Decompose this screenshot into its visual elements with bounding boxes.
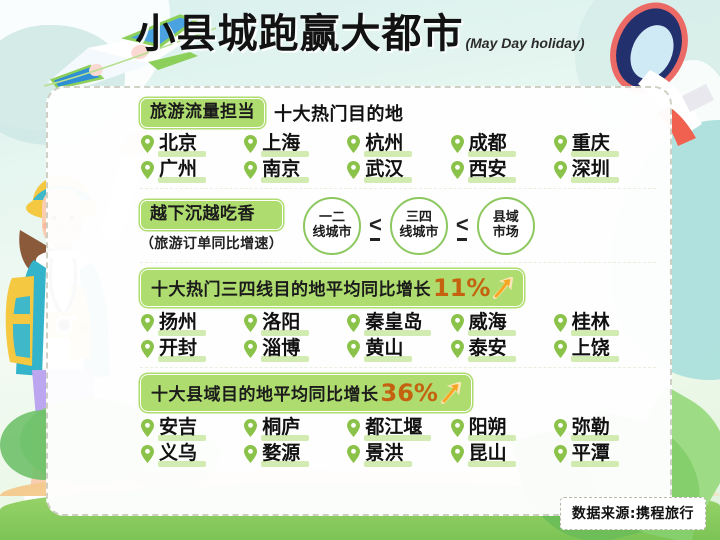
title-block: 小县城跑赢大都市(May Day holiday) bbox=[0, 14, 720, 54]
city-item[interactable]: 秦皇岛 bbox=[346, 312, 449, 334]
badge-sinking-market: 越下沉越吃香 bbox=[140, 200, 283, 230]
city-item[interactable]: 桐庐 bbox=[243, 417, 346, 439]
city-grid-county: 安吉 桐庐 都江堰 阳朔 弥勒 bbox=[140, 417, 656, 465]
city-item[interactable]: 阳朔 bbox=[450, 417, 553, 439]
city-label: 弥勒 bbox=[571, 417, 613, 439]
city-label: 都江堰 bbox=[364, 417, 425, 439]
city-label: 开封 bbox=[158, 338, 200, 360]
city-label: 西安 bbox=[468, 159, 510, 181]
city-label: 义乌 bbox=[158, 443, 200, 465]
map-pin-icon bbox=[346, 340, 361, 358]
city-label: 阳朔 bbox=[468, 417, 510, 439]
up-arrow-icon bbox=[491, 277, 513, 299]
tier-row: 越下沉越吃香 （旅游订单同比增速） 一二 线城市 < 三四 线城市 < 县域 市… bbox=[140, 197, 656, 255]
city-grid-tier34: 扬州 洛阳 秦皇岛 威海 桂林 bbox=[140, 312, 656, 360]
city-label: 扬州 bbox=[158, 312, 200, 334]
section-divider bbox=[140, 188, 656, 189]
map-pin-icon bbox=[553, 419, 568, 437]
city-item[interactable]: 成都 bbox=[450, 133, 553, 155]
map-pin-icon bbox=[450, 340, 465, 358]
city-label: 桂林 bbox=[571, 312, 613, 334]
map-pin-icon bbox=[140, 445, 155, 463]
badge-traffic-leader: 旅游流量担当 bbox=[140, 98, 265, 128]
less-than-symbol: < bbox=[369, 212, 382, 241]
city-label: 秦皇岛 bbox=[364, 312, 425, 334]
tier34-percent: 11% bbox=[433, 276, 490, 300]
map-pin-icon bbox=[346, 135, 361, 153]
section-header: 旅游流量担当 十大热门目的地 bbox=[140, 98, 656, 128]
map-pin-icon bbox=[243, 419, 258, 437]
city-grid-destinations: 北京 上海 杭州 成都 重庆 bbox=[140, 133, 656, 181]
section-tier-comparison: 越下沉越吃香 （旅游订单同比增速） 一二 线城市 < 三四 线城市 < 县域 市… bbox=[140, 195, 656, 255]
heading-top-ten-destinations: 十大热门目的地 bbox=[274, 100, 404, 126]
city-label: 上海 bbox=[261, 133, 303, 155]
city-label: 景洪 bbox=[364, 443, 406, 465]
infographic-canvas: 小县城跑赢大都市(May Day holiday) 旅游流量担当 十大热门目的地… bbox=[0, 0, 720, 540]
city-label: 洛阳 bbox=[261, 312, 303, 334]
map-pin-icon bbox=[450, 314, 465, 332]
city-item[interactable]: 深圳 bbox=[553, 159, 656, 181]
city-item[interactable]: 昆山 bbox=[450, 443, 553, 465]
city-item[interactable]: 上饶 bbox=[553, 338, 656, 360]
section-divider bbox=[140, 262, 656, 263]
city-item[interactable]: 武汉 bbox=[346, 159, 449, 181]
city-label: 婺源 bbox=[261, 443, 303, 465]
city-item[interactable]: 淄博 bbox=[243, 338, 346, 360]
tier34-heading: 十大热门三四线目的地平均同比增长 bbox=[151, 275, 431, 300]
badge-county-growth: 十大县域目的地平均同比增长 36% bbox=[140, 374, 472, 412]
city-item[interactable]: 黄山 bbox=[346, 338, 449, 360]
map-pin-icon bbox=[450, 445, 465, 463]
section-divider bbox=[140, 367, 656, 368]
tier-circle-line2: 市场 bbox=[493, 226, 519, 241]
tier-circle-tier12: 一二 线城市 bbox=[303, 197, 361, 255]
city-label: 黄山 bbox=[364, 338, 406, 360]
city-item[interactable]: 扬州 bbox=[140, 312, 243, 334]
tier-circle-county: 县域 市场 bbox=[477, 197, 535, 255]
city-item[interactable]: 桂林 bbox=[553, 312, 656, 334]
map-pin-icon bbox=[140, 419, 155, 437]
map-pin-icon bbox=[346, 161, 361, 179]
tier-circle-tier34: 三四 线城市 bbox=[390, 197, 448, 255]
map-pin-icon bbox=[140, 161, 155, 179]
city-label: 广州 bbox=[158, 159, 200, 181]
city-item[interactable]: 平潭 bbox=[553, 443, 656, 465]
city-label: 平潭 bbox=[571, 443, 613, 465]
city-label: 淄博 bbox=[261, 338, 303, 360]
map-pin-icon bbox=[243, 314, 258, 332]
page-title: 小县城跑赢大都市 bbox=[135, 14, 463, 54]
tier-circle-line1: 三四 bbox=[406, 211, 432, 226]
city-label: 泰安 bbox=[468, 338, 510, 360]
city-label: 南京 bbox=[261, 159, 303, 181]
map-pin-icon bbox=[243, 135, 258, 153]
map-pin-icon bbox=[140, 135, 155, 153]
city-item[interactable]: 开封 bbox=[140, 338, 243, 360]
map-pin-icon bbox=[243, 161, 258, 179]
city-item[interactable]: 景洪 bbox=[346, 443, 449, 465]
map-pin-icon bbox=[553, 340, 568, 358]
city-item[interactable]: 威海 bbox=[450, 312, 553, 334]
map-pin-icon bbox=[450, 419, 465, 437]
map-pin-icon bbox=[553, 161, 568, 179]
map-pin-icon bbox=[553, 445, 568, 463]
less-than-symbol: < bbox=[456, 212, 469, 241]
city-label: 深圳 bbox=[571, 159, 613, 181]
city-item[interactable]: 都江堰 bbox=[346, 417, 449, 439]
city-item[interactable]: 弥勒 bbox=[553, 417, 656, 439]
city-label: 上饶 bbox=[571, 338, 613, 360]
city-label: 威海 bbox=[468, 312, 510, 334]
city-item[interactable]: 婺源 bbox=[243, 443, 346, 465]
city-item[interactable]: 广州 bbox=[140, 159, 243, 181]
map-pin-icon bbox=[450, 135, 465, 153]
city-label: 成都 bbox=[468, 133, 510, 155]
map-pin-icon bbox=[140, 340, 155, 358]
city-label: 桐庐 bbox=[261, 417, 303, 439]
city-item[interactable]: 泰安 bbox=[450, 338, 553, 360]
page-subtitle: (May Day holiday) bbox=[465, 35, 584, 54]
tier-caption: 越下沉越吃香 （旅游订单同比增速） bbox=[140, 200, 283, 253]
city-label: 武汉 bbox=[364, 159, 406, 181]
data-source-badge: 数据来源:携程旅行 bbox=[560, 497, 706, 530]
map-pin-icon bbox=[243, 340, 258, 358]
map-pin-icon bbox=[450, 161, 465, 179]
city-item[interactable]: 重庆 bbox=[553, 133, 656, 155]
map-pin-icon bbox=[346, 314, 361, 332]
tier-circle-line2: 线城市 bbox=[312, 226, 351, 241]
map-pin-icon bbox=[553, 135, 568, 153]
city-item[interactable]: 北京 bbox=[140, 133, 243, 155]
city-item[interactable]: 杭州 bbox=[346, 133, 449, 155]
map-pin-icon bbox=[243, 445, 258, 463]
up-arrow-icon bbox=[439, 382, 461, 404]
city-label: 重庆 bbox=[571, 133, 613, 155]
map-pin-icon bbox=[553, 314, 568, 332]
city-label: 杭州 bbox=[364, 133, 406, 155]
city-item[interactable]: 西安 bbox=[450, 159, 553, 181]
city-item[interactable]: 上海 bbox=[243, 133, 346, 155]
section-tier34-growth: 十大热门三四线目的地平均同比增长 11% 扬州 洛阳 bbox=[140, 269, 656, 360]
map-pin-icon bbox=[140, 314, 155, 332]
section-hot-destinations: 旅游流量担当 十大热门目的地 北京 上海 杭州 成都 bbox=[140, 98, 656, 181]
tier-circle-line1: 一二 bbox=[319, 211, 345, 226]
county-heading: 十大县域目的地平均同比增长 bbox=[151, 380, 379, 405]
city-label: 安吉 bbox=[158, 417, 200, 439]
county-percent: 36% bbox=[381, 381, 438, 405]
map-pin-icon bbox=[346, 445, 361, 463]
city-label: 昆山 bbox=[468, 443, 510, 465]
section-county-growth: 十大县域目的地平均同比增长 36% 安吉 桐庐 bbox=[140, 374, 656, 465]
tier-note: （旅游订单同比增速） bbox=[140, 233, 283, 253]
city-item[interactable]: 安吉 bbox=[140, 417, 243, 439]
map-pin-icon bbox=[346, 419, 361, 437]
city-item[interactable]: 洛阳 bbox=[243, 312, 346, 334]
content-panel-inner: 旅游流量担当 十大热门目的地 北京 上海 杭州 成都 bbox=[46, 86, 672, 516]
tier-circle-line1: 县域 bbox=[493, 211, 519, 226]
city-item[interactable]: 南京 bbox=[243, 159, 346, 181]
city-label: 北京 bbox=[158, 133, 200, 155]
badge-tier34-growth: 十大热门三四线目的地平均同比增长 11% bbox=[140, 269, 524, 307]
city-item[interactable]: 义乌 bbox=[140, 443, 243, 465]
tier-circle-line2: 线城市 bbox=[399, 226, 438, 241]
